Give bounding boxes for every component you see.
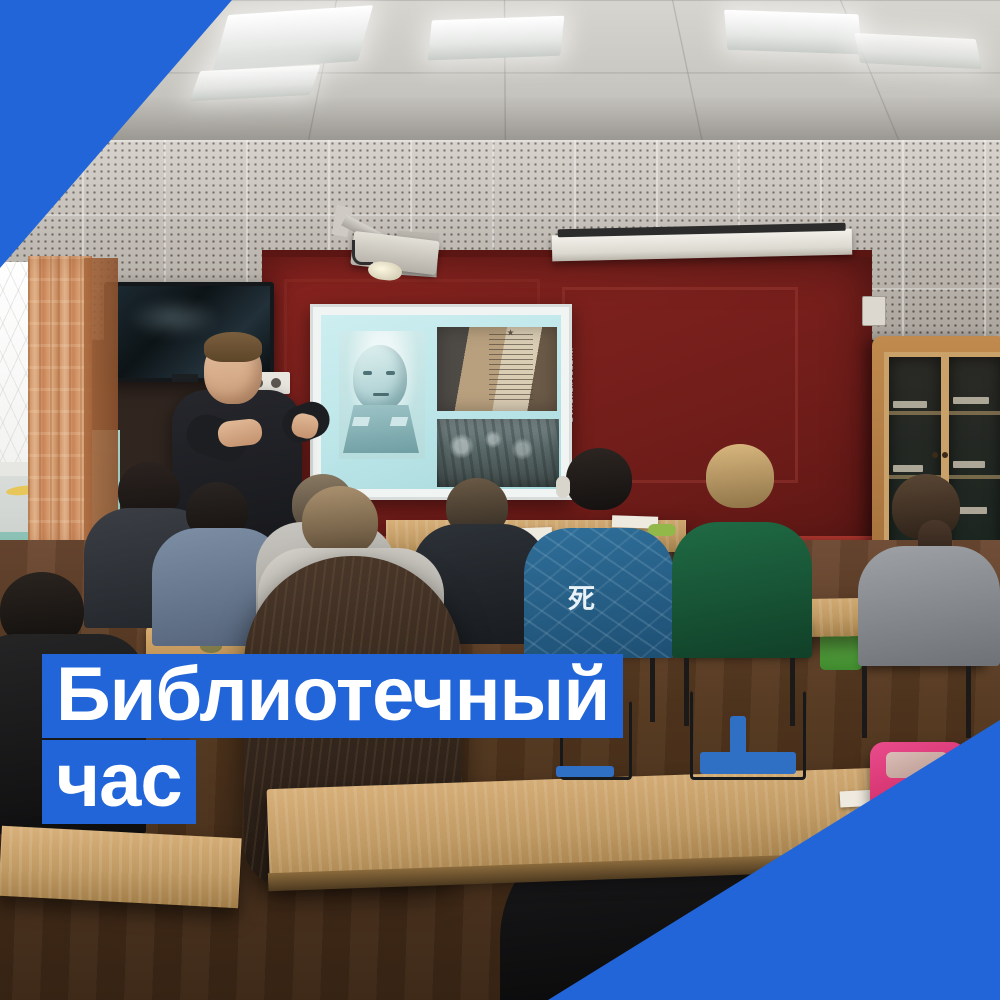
memorial-plaque-photo [437, 327, 557, 411]
tv-mount [172, 374, 198, 382]
cabinet-books [953, 461, 985, 468]
screen-glare [128, 298, 220, 338]
presenter-hair [204, 332, 262, 362]
ceiling-light [724, 10, 862, 55]
cabinet-shelf [889, 411, 941, 415]
title-overlay: Библиотечный час [42, 654, 623, 824]
cabinet-shelf [949, 475, 1000, 479]
desk [0, 826, 242, 908]
poster-card: ИНТЕРАКТИВНАЯ ИНТЕРАКТИВНАЯ [0, 0, 1000, 1000]
headphone-icon [556, 476, 570, 498]
slide [321, 315, 561, 489]
cabinet-books [953, 397, 989, 404]
cabinet-handle[interactable] [942, 452, 948, 458]
student-head [706, 444, 774, 508]
title-line-2: час [42, 740, 196, 824]
student-torso [858, 546, 1000, 666]
cabinet-shelf [949, 411, 1000, 415]
projection-screen [310, 304, 572, 500]
light-switch [862, 296, 886, 326]
portrait-face [353, 345, 407, 411]
portrait-sketch [339, 331, 425, 459]
student-head [566, 448, 632, 510]
title-line-1: Библиотечный [42, 654, 623, 738]
shirt-print [524, 528, 674, 658]
ceiling-light [428, 16, 565, 61]
projector-cable [352, 240, 373, 265]
portrait-mouth [373, 393, 389, 396]
uniform-collar [343, 405, 419, 453]
shirt-kanji: 死 [568, 584, 596, 614]
cabinet-books [893, 401, 927, 408]
plaque-inscription [489, 334, 533, 402]
ceiling-light [213, 5, 373, 71]
cabinet-books [893, 465, 923, 472]
student-torso [672, 522, 812, 658]
student-head [302, 486, 378, 556]
cabinet-handle[interactable] [932, 452, 938, 458]
historic-photo [437, 419, 559, 487]
student-torso: 死 [524, 528, 674, 658]
curtain [28, 256, 62, 546]
top-left-corner-triangle [0, 0, 232, 268]
